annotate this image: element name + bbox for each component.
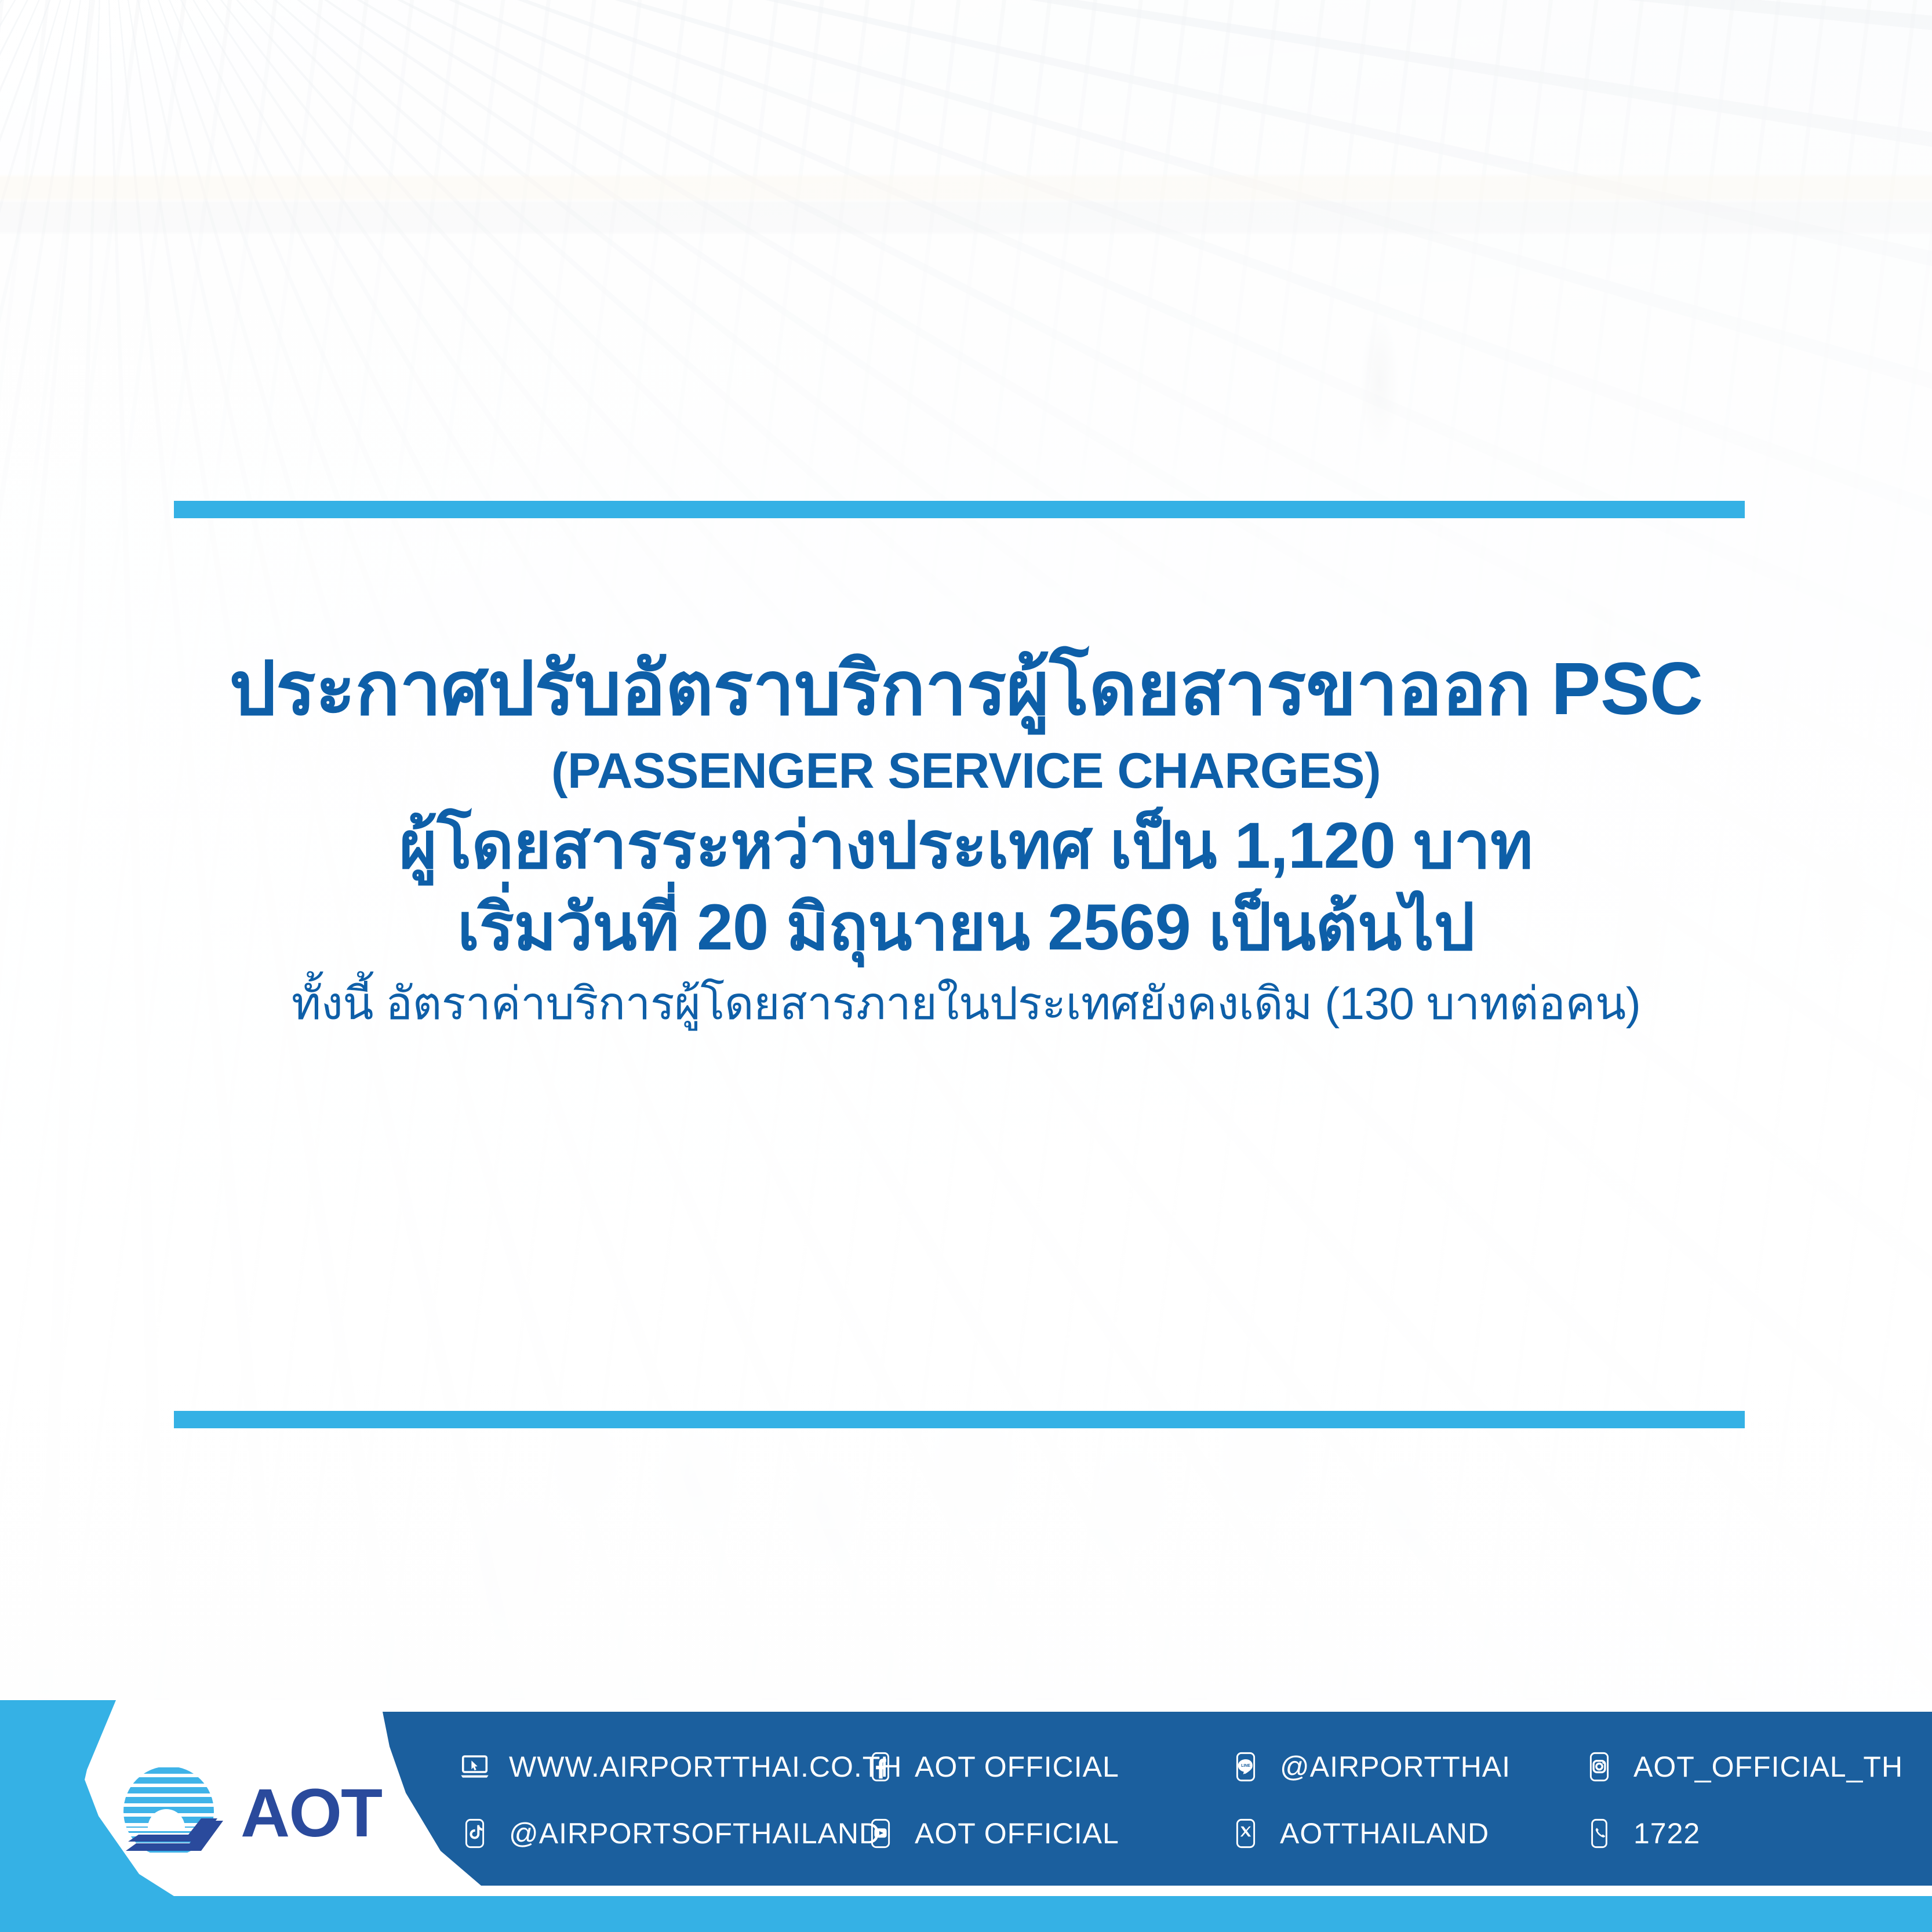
contact-facebook[interactable]: AOT OFFICIAL [864, 1750, 1229, 1784]
contact-label: AOT OFFICIAL [915, 1750, 1119, 1784]
contact-instagram[interactable]: AOT_OFFICIAL_TH [1582, 1750, 1930, 1784]
contact-label: AOTTHAILAND [1280, 1817, 1489, 1850]
aot-globe-mark-icon [113, 1753, 229, 1872]
line-icon: LINE [1229, 1750, 1262, 1784]
aot-logo[interactable]: AOT [113, 1753, 414, 1878]
contact-label: 1722 [1633, 1817, 1700, 1850]
subtitle-english: (PASSENGER SERVICE CHARGES) [0, 744, 1932, 798]
contact-youtube[interactable]: AOT OFFICIAL [864, 1817, 1229, 1850]
contact-phone[interactable]: 1722 [1582, 1817, 1930, 1850]
headline-thai: ประกาศปรับอัตราบริการผู้โดยสารขาออก PSC [0, 649, 1932, 729]
contact-line[interactable]: LINE @AIRPORTTHAI [1229, 1750, 1582, 1784]
contact-label: AOT_OFFICIAL_TH [1633, 1750, 1903, 1784]
contact-tiktok[interactable]: @AIRPORTSOFTHAILAND [458, 1817, 864, 1850]
rate-line: ผู้โดยสารระหว่างประเทศ เป็น 1,120 บาท [0, 811, 1932, 881]
tiktok-icon [458, 1817, 492, 1850]
domestic-rate-note: ทั้งนี้ อัตราค่าบริการผู้โดยสารภายในประเ… [0, 979, 1932, 1028]
effective-date-line: เริ่มวันที่ 20 มิถุนายน 2569 เป็นต้นไป [0, 893, 1932, 963]
poster-canvas: ประกาศปรับอัตราบริการผู้โดยสารขาออก PSC … [0, 0, 1932, 1932]
contact-label: @AIRPORTTHAI [1280, 1750, 1511, 1784]
x-twitter-icon [1229, 1817, 1262, 1850]
contact-label: WWW.AIRPORTTHAI.CO.TH [509, 1750, 902, 1784]
contact-label: AOT OFFICIAL [915, 1817, 1119, 1850]
contact-website[interactable]: WWW.AIRPORTTHAI.CO.TH [458, 1750, 864, 1784]
svg-text:LINE: LINE [1241, 1763, 1250, 1767]
contact-label: @AIRPORTSOFTHAILAND [509, 1817, 881, 1850]
facebook-icon [864, 1750, 897, 1784]
contact-x-twitter[interactable]: AOTTHAILAND [1229, 1817, 1582, 1850]
phone-icon [1582, 1817, 1616, 1850]
announcement-text-block: ประกาศปรับอัตราบริการผู้โดยสารขาออก PSC … [0, 649, 1932, 1028]
top-divider-rule [174, 501, 1745, 518]
youtube-icon [864, 1817, 897, 1850]
bottom-divider-rule [174, 1411, 1745, 1428]
instagram-icon [1582, 1750, 1616, 1784]
website-laptop-icon [458, 1750, 492, 1784]
aot-wordmark: AOT [241, 1779, 381, 1847]
footer-contact-grid: WWW.AIRPORTTHAI.CO.TH AOT OFFICIAL LINE [458, 1733, 1930, 1866]
